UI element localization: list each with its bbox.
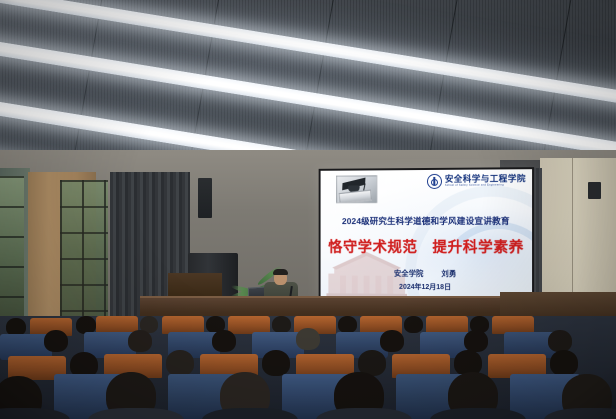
audience-head [550,350,578,376]
projector-screen: 安全科学与工程学院 School of Safety Science and E… [319,167,534,303]
school-name-cn: 安全科学与工程学院 [445,174,526,183]
presentation-slide: 安全科学与工程学院 School of Safety Science and E… [321,169,532,301]
audience-head [464,330,488,352]
presenter-hair [273,269,288,275]
audience-head [262,350,290,376]
left-window-outer [0,176,24,316]
slide-department: 安全学院 [394,269,423,278]
audience-shoulders [202,408,298,419]
lecture-hall-photo: 安全科学与工程学院 School of Safety Science and E… [0,0,616,419]
audience-head [166,350,194,376]
audience-seating [0,316,616,419]
audience-head [296,328,320,350]
audience-head [212,330,236,352]
audience-shoulders [430,408,526,419]
audience-shoulders [316,408,412,419]
mullioned-window [60,180,108,320]
university-seal-icon [427,174,442,189]
audience-head [380,330,404,352]
graduation-cap-photo [336,175,377,203]
audience-head [548,330,572,352]
school-logo-text: 安全科学与工程学院 School of Safety Science and E… [445,174,526,187]
slide-presenter-line: 安全学院 刘勇 [321,268,532,280]
audience-head [338,316,357,333]
audience-head [272,316,291,333]
wall-speaker-icon [198,178,212,218]
wall-speaker-icon [588,182,601,199]
audience-head [128,330,152,352]
slide-presenter: 刘勇 [441,269,456,278]
audience-head [44,330,68,352]
audience-head [404,316,423,333]
book-icon [339,190,372,204]
audience-shoulders [88,408,184,419]
school-name-en: School of Safety Science and Engineering [445,185,526,188]
slide-subtitle: 2024级研究生科学道德和学风建设宣讲教育 [321,215,532,227]
slide-title: 恪守学术规范 提升科学素养 [321,236,532,257]
school-logo: 安全科学与工程学院 School of Safety Science and E… [427,173,526,189]
